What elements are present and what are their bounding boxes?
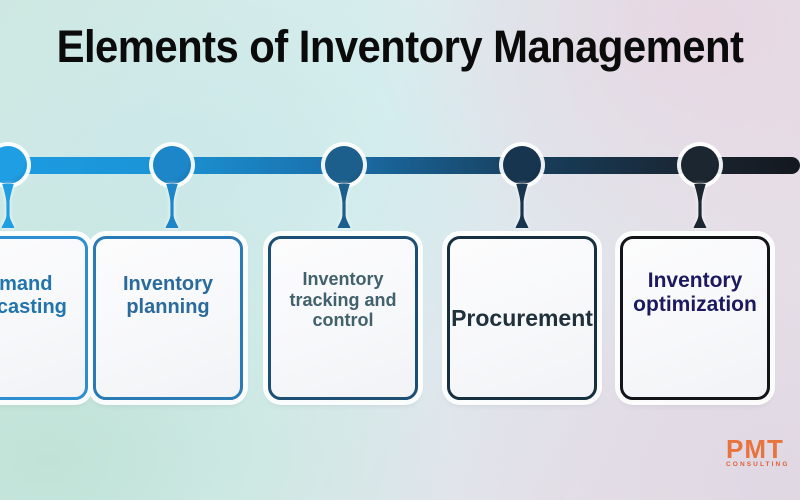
timeline-connector-stem-5 <box>691 184 709 228</box>
card-label: Inventory optimization <box>623 269 767 317</box>
card-inventory-planning[interactable]: Inventory planning <box>93 236 243 400</box>
watermark-brand: PMT <box>726 437 800 461</box>
timeline-connector-stem-1 <box>0 184 17 228</box>
timeline-node-3[interactable] <box>325 146 363 184</box>
timeline-bar-segment <box>164 157 344 174</box>
timeline-node-5[interactable] <box>681 146 719 184</box>
timeline-node-4[interactable] <box>503 146 541 184</box>
card-label: Demand forecasting <box>0 273 85 319</box>
timeline-node-1[interactable] <box>0 146 27 184</box>
card-label: Inventory tracking and control <box>273 269 413 331</box>
timeline-connector-stem-4 <box>513 184 531 228</box>
timeline-node-2[interactable] <box>153 146 191 184</box>
timeline-connector-stem-2 <box>163 184 181 228</box>
card-label: Inventory planning <box>98 273 238 319</box>
timeline-connector-stem-3 <box>335 184 353 228</box>
infographic-canvas: Elements of Inventory Management Demand … <box>0 0 800 500</box>
card-inventory-optimization[interactable]: Inventory optimization <box>620 236 770 400</box>
card-demand-forecasting[interactable]: Demand forecasting <box>0 236 88 400</box>
card-inventory-tracking-and-control[interactable]: Inventory tracking and control <box>268 236 418 400</box>
timeline-bar-segment <box>522 157 700 174</box>
watermark-logo: PMT CONSULTING <box>726 437 800 469</box>
timeline-bar-segment <box>344 157 522 174</box>
card-procurement[interactable]: Procurement <box>447 236 597 400</box>
watermark-tagline: CONSULTING <box>726 461 800 469</box>
card-label: Procurement <box>451 305 593 331</box>
